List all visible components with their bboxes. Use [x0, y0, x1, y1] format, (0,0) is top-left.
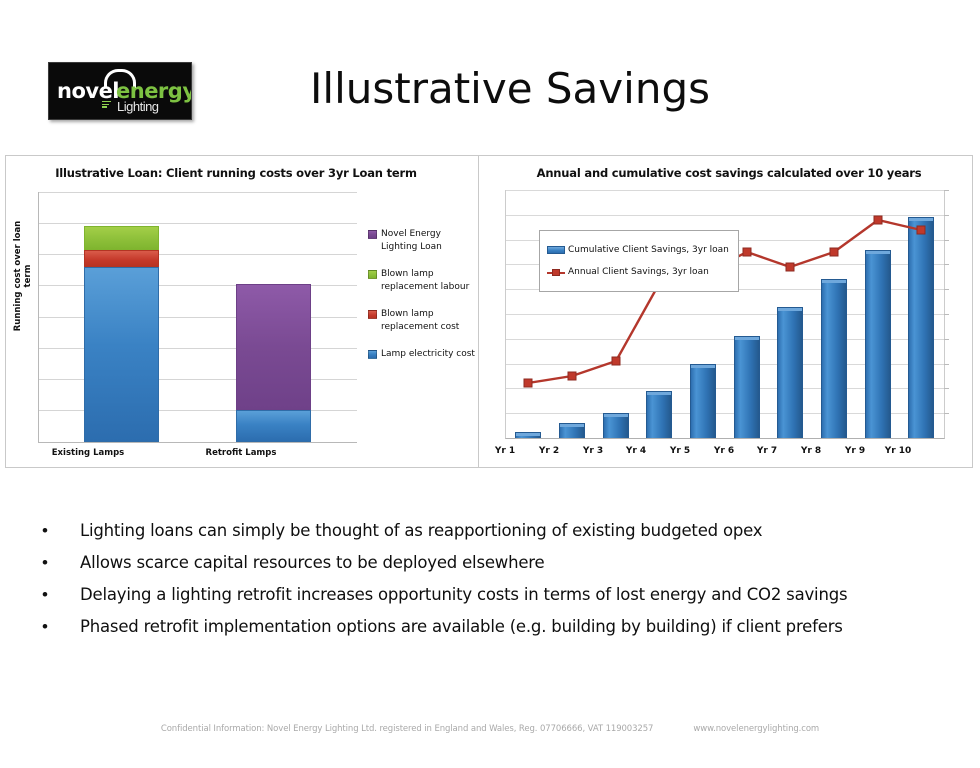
right-chart-x-tick: Yr 3: [571, 446, 615, 456]
bar-existing-lamps: [84, 226, 159, 442]
list-item: • Delaying a lighting retrofit increases…: [42, 585, 952, 604]
legend-label: Lamp electricity cost: [381, 348, 475, 361]
lamp-rays-icon: [102, 101, 111, 108]
legend-item-annual-client-savings: Annual Client Savings, 3yr loan: [547, 261, 731, 283]
legend-label: Blown lamp replacement labour: [381, 268, 480, 294]
left-chart-plot-area: [38, 192, 357, 443]
chart-illustrative-loan: Illustrative Loan: Client running costs …: [6, 156, 477, 467]
legend-swatch-icon: [368, 230, 377, 239]
right-chart-x-tick: Yr 6: [702, 446, 746, 456]
legend-swatch-icon: [368, 270, 377, 279]
annual-savings-line-series: [506, 190, 944, 438]
bullet-marker-icon: •: [42, 554, 80, 571]
footer-website-url[interactable]: www.novelenergylighting.com: [693, 724, 819, 734]
bullet-marker-icon: •: [42, 618, 80, 635]
gridline: [39, 192, 357, 193]
legend-item-cumulative-client-savings: Cumulative Client Savings, 3yr loan: [547, 239, 731, 261]
legend-item-blown-lamp-replacement-labour: Blown lamp replacement labour: [368, 268, 480, 294]
right-chart-legend: Cumulative Client Savings, 3yr loan Annu…: [539, 230, 739, 292]
legend-item-lamp-electricity-cost: Lamp electricity cost: [368, 348, 480, 361]
legend-label: Novel Energy Lighting Loan: [381, 228, 480, 254]
bullet-text: Delaying a lighting retrofit increases o…: [80, 585, 847, 604]
right-chart-x-tick: Yr 5: [658, 446, 702, 456]
left-chart-y-axis-label: Running cost over loan term: [13, 211, 33, 341]
legend-swatch-icon: [368, 350, 377, 359]
left-chart-title: Illustrative Loan: Client running costs …: [36, 166, 436, 180]
slide-header: novel energy Lighting Illustrative Savin…: [0, 0, 980, 150]
right-chart-title: Annual and cumulative cost savings calcu…: [519, 166, 939, 180]
legend-label: Annual Client Savings, 3yr loan: [568, 267, 709, 277]
bullet-text: Allows scarce capital resources to be de…: [80, 553, 544, 572]
legend-item-novel-energy-lighting-loan: Novel Energy Lighting Loan: [368, 228, 480, 254]
bar-segment-lamp-electricity-cost: [236, 410, 311, 442]
right-chart-x-tick: Yr 10: [876, 446, 920, 456]
logo-tagline: Lighting: [117, 99, 159, 114]
left-chart-x-tick: Retrofit Lamps: [186, 448, 296, 458]
footer-confidential-text: Confidential Information: Novel Energy L…: [161, 724, 653, 734]
right-chart-x-tick: Yr 1: [483, 446, 527, 456]
right-chart-plot-area: Cumulative Client Savings, 3yr loan Annu…: [505, 190, 945, 439]
bullet-list: • Lighting loans can simply be thought o…: [42, 521, 952, 649]
logo-word-novel: novel: [57, 79, 119, 103]
company-logo: novel energy Lighting: [48, 62, 192, 120]
legend-item-blown-lamp-replacement-cost: Blown lamp replacement cost: [368, 308, 480, 334]
bullet-marker-icon: •: [42, 586, 80, 603]
right-chart-x-tick: Yr 8: [789, 446, 833, 456]
chart-annual-cumulative-savings: Annual and cumulative cost savings calcu…: [479, 156, 973, 467]
gridline: [39, 223, 357, 224]
right-chart-x-tick: Yr 4: [614, 446, 658, 456]
bar-segment-novel-energy-lighting-loan: [236, 284, 311, 410]
bullet-text: Lighting loans can simply be thought of …: [80, 521, 762, 540]
bar-segment-blown-lamp-replacement-cost: [84, 250, 159, 267]
slide-footer: Confidential Information: Novel Energy L…: [0, 724, 980, 734]
legend-bar-swatch-icon: [547, 246, 565, 254]
right-chart-x-tick: Yr 7: [745, 446, 789, 456]
bullet-marker-icon: •: [42, 522, 80, 539]
legend-line-swatch-icon: [547, 268, 565, 277]
list-item: • Lighting loans can simply be thought o…: [42, 521, 952, 540]
right-chart-x-tick: Yr 2: [527, 446, 571, 456]
bar-segment-lamp-electricity-cost: [84, 267, 159, 442]
bar-segment-blown-lamp-replacement-labour: [84, 226, 159, 250]
page-title: Illustrative Savings: [300, 64, 720, 113]
right-chart-x-tick: Yr 9: [833, 446, 877, 456]
bullet-text: Phased retrofit implementation options a…: [80, 617, 843, 636]
left-chart-x-tick: Existing Lamps: [33, 448, 143, 458]
legend-swatch-icon: [368, 310, 377, 319]
legend-label: Blown lamp replacement cost: [381, 308, 480, 334]
list-item: • Allows scarce capital resources to be …: [42, 553, 952, 572]
bar-retrofit-lamps: [236, 284, 311, 442]
left-chart-legend: Novel Energy Lighting Loan Blown lamp re…: [368, 228, 480, 375]
legend-label: Cumulative Client Savings, 3yr loan: [568, 245, 729, 255]
list-item: • Phased retrofit implementation options…: [42, 617, 952, 636]
